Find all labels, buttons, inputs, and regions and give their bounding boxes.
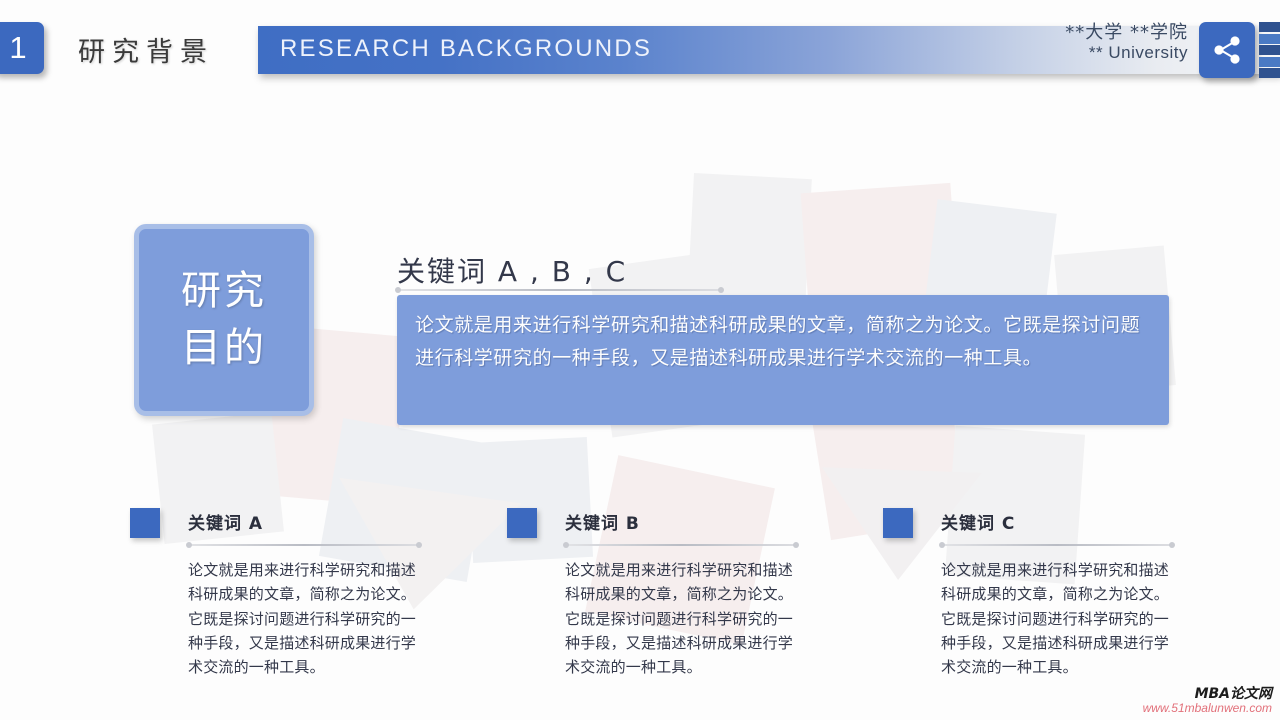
- page-subtitle: RESEARCH BACKGROUNDS: [280, 35, 652, 63]
- slide-canvas: 1 研究背景 RESEARCH BACKGROUNDS **大学 **学院 **…: [0, 0, 1280, 720]
- bullet-square-icon: [130, 508, 160, 538]
- divider-line: [188, 544, 420, 546]
- research-purpose-card: 研究 目的: [134, 224, 314, 416]
- column-title: 关键词 A: [188, 509, 263, 534]
- divider-dot-left: [939, 542, 945, 548]
- highlight-paragraph: 论文就是用来进行科学研究和描述科研成果的文章，简称之为论文。它既是探讨问题进行科…: [415, 309, 1151, 375]
- divider-line: [941, 544, 1173, 546]
- column-title: 关键词 C: [941, 509, 1015, 534]
- column-body: 论文就是用来进行科学研究和描述科研成果的文章，简称之为论文。它既是探讨问题进行科…: [188, 558, 416, 679]
- decorative-bar: [1259, 68, 1280, 78]
- divider-dot-left: [563, 542, 569, 548]
- column-divider: [188, 544, 420, 546]
- column-divider: [565, 544, 797, 546]
- section-number-badge: 1: [0, 22, 44, 74]
- bullet-square-icon: [883, 508, 913, 538]
- decorative-bar: [1259, 22, 1280, 32]
- watermark: MBA论文网 www.51mbalunwen.com: [1143, 686, 1272, 716]
- decorative-bar: [1259, 45, 1280, 55]
- heading-divider: [397, 289, 722, 291]
- watermark-brand: MBA论文网: [1143, 686, 1272, 702]
- university-name-en: ** University: [988, 43, 1188, 63]
- decorative-bars: [1259, 22, 1280, 78]
- divider-line: [565, 544, 797, 546]
- purpose-line-2: 目的: [181, 320, 267, 377]
- divider-dot-right: [718, 287, 724, 293]
- divider-line: [397, 289, 722, 291]
- divider-dot-left: [395, 287, 401, 293]
- slide-header: 1 研究背景 RESEARCH BACKGROUNDS **大学 **学院 **…: [0, 0, 1280, 100]
- column-body: 论文就是用来进行科学研究和描述科研成果的文章，简称之为论文。它既是探讨问题进行科…: [565, 558, 793, 679]
- university-name-cn: **大学 **学院: [988, 22, 1188, 43]
- page-title: 研究背景: [78, 30, 214, 69]
- divider-dot-right: [416, 542, 422, 548]
- column-title: 关键词 B: [565, 509, 640, 534]
- keyword-heading: 关键词 A , B , C: [397, 250, 627, 290]
- watermark-url: www.51mbalunwen.com: [1143, 702, 1272, 716]
- bullet-square-icon: [507, 508, 537, 538]
- decorative-bar: [1259, 57, 1280, 67]
- decorative-bar: [1259, 34, 1280, 44]
- university-label: **大学 **学院 ** University: [988, 22, 1188, 63]
- column-divider: [941, 544, 1173, 546]
- divider-dot-right: [793, 542, 799, 548]
- purpose-line-1: 研究: [181, 263, 267, 320]
- divider-dot-left: [186, 542, 192, 548]
- share-button[interactable]: [1199, 22, 1255, 78]
- column-body: 论文就是用来进行科学研究和描述科研成果的文章，简称之为论文。它既是探讨问题进行科…: [941, 558, 1169, 679]
- highlight-panel: 论文就是用来进行科学研究和描述科研成果的文章，简称之为论文。它既是探讨问题进行科…: [397, 295, 1169, 425]
- divider-dot-right: [1169, 542, 1175, 548]
